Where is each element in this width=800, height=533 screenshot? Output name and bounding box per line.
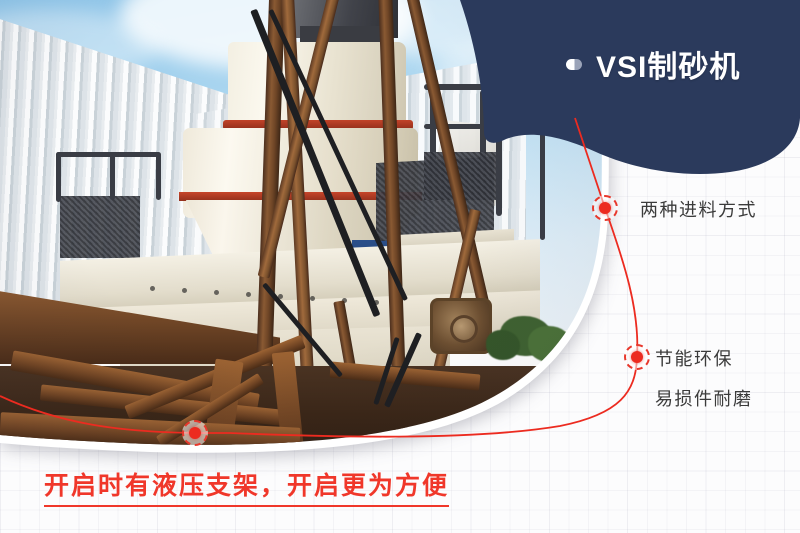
- callout-label-energy: 节能环保: [655, 345, 733, 371]
- callout-label-feeding: 两种进料方式: [640, 196, 757, 222]
- bottom-caption: 开启时有液压支架，开启更为方便: [44, 466, 449, 507]
- red-dot-marker-icon: [592, 195, 618, 221]
- screenshot-canvas: VSI制砂机 两种进料方式 节能环保 易损件耐磨 开启时有液压支架，开启更为方便: [0, 0, 800, 533]
- red-dot-marker-icon: [624, 344, 650, 370]
- red-connector-line: [0, 0, 800, 533]
- red-dot-marker-icon: [182, 420, 208, 446]
- callout-label-wear: 易损件耐磨: [655, 385, 753, 411]
